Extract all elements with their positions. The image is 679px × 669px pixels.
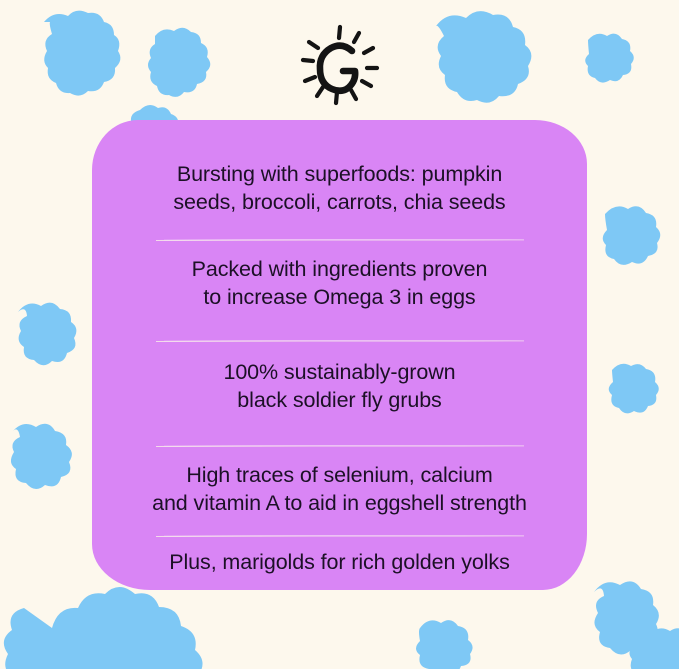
sun-g-logo [299,24,381,106]
divider-stroke [154,239,526,241]
sun-ray-icon [362,81,371,86]
claim-eggshell-strength: High traces of selenium, calcium and vit… [110,461,569,518]
divider-stroke [154,340,526,342]
sun-ray-icon [309,42,318,48]
claim-superfoods: Bursting with superfoods: pumpkin seeds,… [110,160,569,217]
cloud-icon [585,34,634,83]
claim-sustainably-grown: 100% sustainably-grown black soldier fly… [110,358,569,415]
divider-stroke [154,535,526,537]
cloud-icon [44,11,120,96]
sun-ray-icon [305,77,315,81]
cloud-icon [416,620,473,669]
cloud-icon [4,587,203,669]
sun-ray-icon [339,27,340,38]
cloud-icon [18,303,76,366]
logo-letter-g [320,46,355,91]
sun-ray-icon [317,87,323,96]
cloud-icon [594,581,659,654]
poster-canvas: Bursting with superfoods: pumpkin seeds,… [0,0,679,669]
cloud-icon [603,206,661,265]
cloud-icon [148,28,210,97]
claim-marigolds: Plus, marigolds for rich golden yolks [110,548,569,576]
sun-ray-icon [351,90,356,99]
cloud-icon [609,364,659,414]
claim-omega-3: Packed with ingredients proven to increa… [110,255,569,312]
cloud-icon [11,424,72,489]
cloud-icon [436,11,531,103]
sun-ray-icon [303,60,313,61]
sun-ray-icon [354,33,359,42]
divider-stroke [154,445,526,447]
cloud-icon [629,628,679,669]
sun-ray-icon [364,48,373,53]
claims-card: Bursting with superfoods: pumpkin seeds,… [92,120,587,590]
